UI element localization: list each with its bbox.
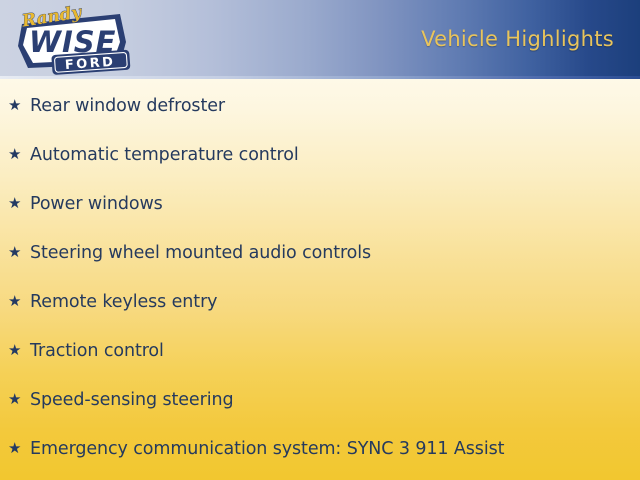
- list-item: ★ Emergency communication system: SYNC 3…: [8, 436, 504, 462]
- highlight-label: Traction control: [30, 338, 164, 364]
- list-item: ★ Rear window defroster: [8, 93, 225, 119]
- list-item: ★ Steering wheel mounted audio controls: [8, 240, 371, 266]
- highlight-label: Power windows: [30, 191, 163, 217]
- highlight-label: Speed-sensing steering: [30, 387, 233, 413]
- star-icon: ★: [8, 294, 30, 309]
- list-item: ★ Power windows: [8, 191, 163, 217]
- list-item: ★ Remote keyless entry: [8, 289, 217, 315]
- header-bar: WISE FORD Randy Vehicle Highlights: [0, 0, 640, 79]
- highlight-label: Remote keyless entry: [30, 289, 217, 315]
- list-item: ★ Automatic temperature control: [8, 142, 299, 168]
- star-icon: ★: [8, 147, 30, 162]
- star-icon: ★: [8, 245, 30, 260]
- star-icon: ★: [8, 343, 30, 358]
- vehicle-highlights-list: ★ Rear window defroster ★ Automatic temp…: [0, 79, 640, 480]
- list-item: ★ Traction control: [8, 338, 164, 364]
- star-icon: ★: [8, 98, 30, 113]
- star-icon: ★: [8, 196, 30, 211]
- highlight-label: Steering wheel mounted audio controls: [30, 240, 371, 266]
- star-icon: ★: [8, 392, 30, 407]
- randy-wise-ford-logo[interactable]: WISE FORD Randy: [8, 2, 140, 78]
- highlight-label: Emergency communication system: SYNC 3 9…: [30, 436, 504, 462]
- star-icon: ★: [8, 441, 30, 456]
- highlight-label: Rear window defroster: [30, 93, 225, 119]
- vehicle-highlights-page: WISE FORD Randy Vehicle Highlights ★ Rea…: [0, 0, 640, 480]
- list-item: ★ Speed-sensing steering: [8, 387, 233, 413]
- highlight-label: Automatic temperature control: [30, 142, 299, 168]
- page-title: Vehicle Highlights: [421, 27, 614, 51]
